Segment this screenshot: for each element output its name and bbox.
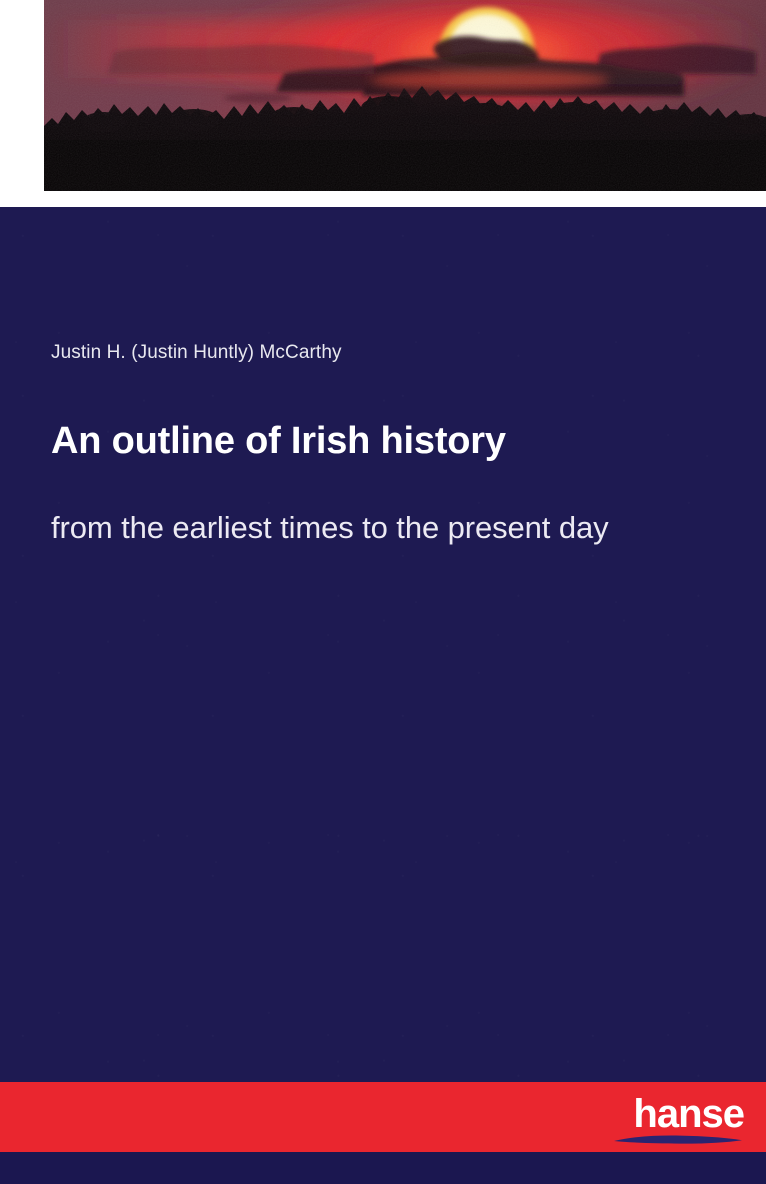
bottom-navy-strip: [0, 1152, 766, 1184]
hanse-logo-swoosh-icon: [612, 1134, 744, 1145]
cover-text-block: Justin H. (Justin Huntly) McCarthy An ou…: [51, 340, 731, 548]
book-subtitle: from the earliest times to the present d…: [51, 508, 731, 548]
hanse-publisher-logo: hanse: [604, 1093, 744, 1149]
author-name: Justin H. (Justin Huntly) McCarthy: [51, 340, 731, 366]
background-texture: [0, 207, 766, 1082]
sunset-photo-artwork: [44, 0, 766, 191]
book-cover: Justin H. (Justin Huntly) McCarthy An ou…: [0, 0, 766, 1184]
sunset-over-treeline-photo: [44, 0, 766, 191]
cover-background: [0, 207, 766, 1082]
hanse-logo-wordmark: hanse: [604, 1093, 744, 1135]
book-title: An outline of Irish history: [51, 418, 731, 464]
